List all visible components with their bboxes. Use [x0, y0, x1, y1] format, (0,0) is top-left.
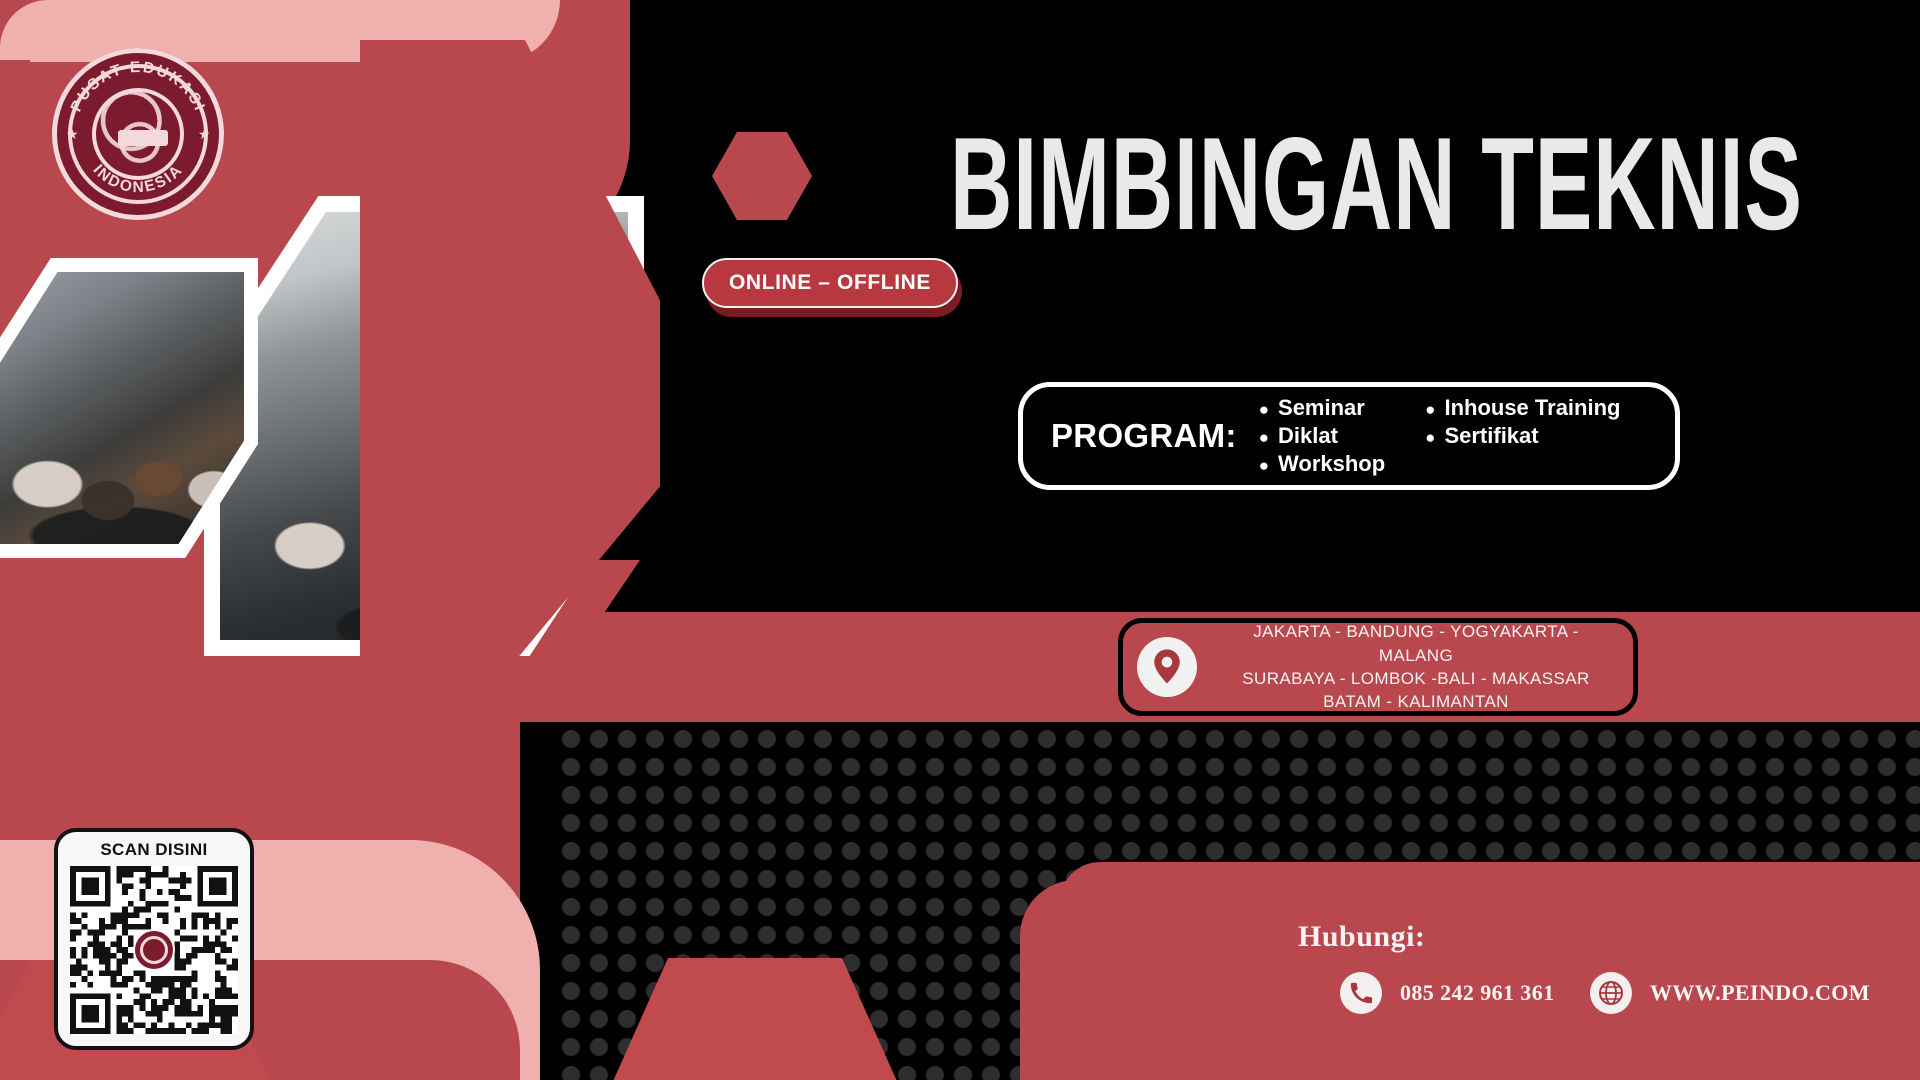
locations-text: JAKARTA - BANDUNG - YOGYAKARTA - MALANG … — [1215, 620, 1617, 714]
program-item-label: Inhouse Training — [1444, 394, 1620, 422]
page-title: BIMBINGAN TEKNIS — [950, 118, 1803, 250]
map-pin-icon — [1137, 637, 1197, 697]
contact-phone-row[interactable]: 085 242 961 361 — [1340, 972, 1555, 1014]
qr-center-logo-icon — [133, 929, 175, 971]
program-item-label: Seminar — [1278, 394, 1365, 422]
logo-emblem-icon — [92, 88, 184, 180]
logo-star-left-icon: ★ — [66, 128, 78, 140]
program-columns: ●Seminar ●Diklat ●Workshop ●Inhouse Trai… — [1259, 394, 1621, 478]
location-line: BATAM - KALIMANTAN — [1215, 690, 1617, 713]
bullet-icon: ● — [1259, 457, 1269, 474]
qr-card[interactable]: SCAN DISINI — [54, 828, 254, 1050]
program-label: PROGRAM: — [1051, 417, 1237, 455]
contact-website-row[interactable]: WWW.PEINDO.COM — [1590, 972, 1870, 1014]
logo-star-right-icon: ★ — [198, 128, 210, 140]
globe-glyph — [1598, 980, 1624, 1006]
qr-code-image[interactable] — [70, 866, 238, 1034]
company-logo: PUSAT EDUKASI INDONESIA ★ ★ — [52, 48, 224, 220]
bullet-icon: ● — [1259, 429, 1269, 446]
phone-number[interactable]: 085 242 961 361 — [1400, 980, 1555, 1006]
location-line: SURABAYA - LOMBOK -BALI - MAKASSAR — [1215, 667, 1617, 690]
program-column-two: ●Inhouse Training ●Sertifikat — [1425, 394, 1620, 478]
bullet-icon: ● — [1259, 401, 1269, 418]
phone-icon — [1340, 972, 1382, 1014]
program-item-label: Workshop — [1278, 450, 1385, 478]
program-item-label: Diklat — [1278, 422, 1338, 450]
list-item: ●Workshop — [1259, 450, 1385, 478]
mode-badge[interactable]: ONLINE – OFFLINE — [702, 258, 958, 308]
bullet-icon: ● — [1425, 429, 1435, 446]
map-pin-glyph — [1154, 649, 1180, 683]
website-url[interactable]: WWW.PEINDO.COM — [1650, 980, 1870, 1006]
decor-hexagon-accent — [712, 132, 812, 220]
contact-heading: Hubungi: — [1298, 920, 1425, 954]
list-item: ●Seminar — [1259, 394, 1385, 422]
bullet-icon: ● — [1425, 401, 1435, 418]
list-item: ●Inhouse Training — [1425, 394, 1620, 422]
photo-hexagon-secondary — [0, 258, 258, 558]
globe-icon — [1590, 972, 1632, 1014]
phone-glyph — [1349, 981, 1373, 1005]
locations-badge: JAKARTA - BANDUNG - YOGYAKARTA - MALANG … — [1118, 618, 1638, 716]
qr-label: SCAN DISINI — [100, 840, 207, 860]
list-item: ●Sertifikat — [1425, 422, 1620, 450]
location-line: JAKARTA - BANDUNG - YOGYAKARTA - MALANG — [1215, 620, 1617, 667]
program-box: PROGRAM: ●Seminar ●Diklat ●Workshop ●Inh… — [1018, 382, 1680, 490]
list-item: ●Diklat — [1259, 422, 1385, 450]
program-column-one: ●Seminar ●Diklat ●Workshop — [1259, 394, 1385, 478]
program-item-label: Sertifikat — [1444, 422, 1538, 450]
poster-canvas: PUSAT EDUKASI INDONESIA ★ ★ BIMBINGAN TE… — [0, 0, 1920, 1080]
